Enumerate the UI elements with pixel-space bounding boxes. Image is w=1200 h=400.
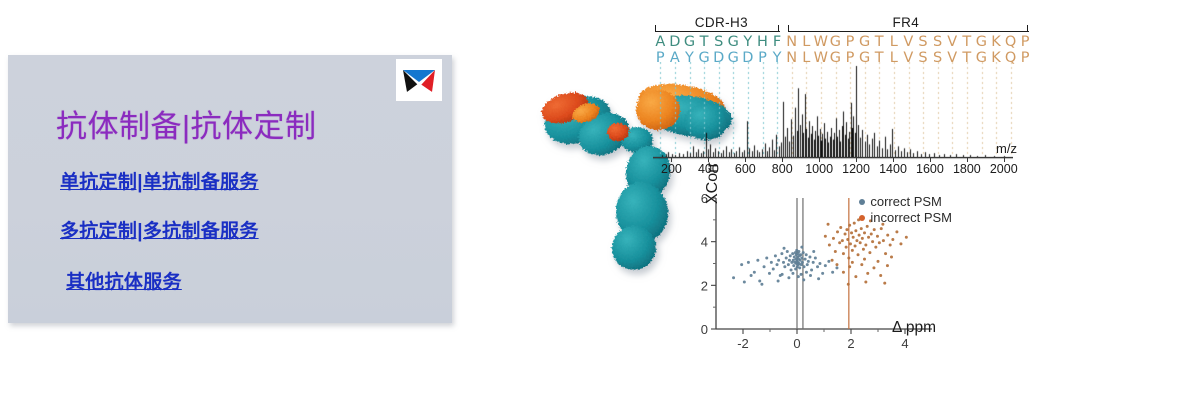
- scatter-point: [834, 250, 837, 253]
- residue: P: [1018, 34, 1033, 50]
- residue: S: [711, 34, 726, 50]
- promo-link-pab[interactable]: 多抗定制|多抗制备服务: [60, 216, 259, 243]
- residue: G: [726, 34, 741, 50]
- xcorr-scatter-plot: -20240246 XCorr Δ ppm correct PSMincorre…: [690, 190, 940, 365]
- scatter-point: [839, 226, 842, 229]
- residue: G: [682, 34, 697, 50]
- scatter-point: [780, 252, 783, 255]
- scatter-point: [747, 261, 750, 264]
- scatter-point: [756, 259, 759, 262]
- mz-tick-label: 200: [661, 162, 682, 176]
- residue: F: [770, 34, 785, 50]
- scatter-point: [827, 260, 830, 263]
- scatter-point: [787, 276, 790, 279]
- residue: L: [887, 34, 902, 50]
- scatter-point: [802, 278, 805, 281]
- scatter-point: [835, 266, 838, 269]
- scatter-point: [883, 282, 886, 285]
- scatter-point: [740, 263, 743, 266]
- legend-item: correct PSM: [859, 194, 952, 210]
- mz-tick-label: 1400: [879, 162, 907, 176]
- scatter-point: [890, 255, 893, 258]
- scatter-point: [847, 283, 850, 286]
- scatter-point: [792, 264, 795, 267]
- sequence-row-1: ADGTSGYHFNLWGPGTLVSSVTGKQP: [653, 34, 1013, 50]
- scatter-point: [804, 258, 807, 261]
- scatter-point: [803, 265, 806, 268]
- scatter-point: [770, 261, 773, 264]
- scatter-point: [774, 254, 777, 257]
- region-tick-mid-a: [778, 25, 779, 32]
- scatter-point: [863, 231, 866, 234]
- mz-tick-label: 1000: [805, 162, 833, 176]
- scatter-point: [818, 262, 821, 265]
- mz-tick-label: 600: [735, 162, 756, 176]
- residue: Y: [741, 34, 756, 50]
- residue: G: [974, 34, 989, 50]
- scatter-point: [809, 274, 812, 277]
- scatter-point: [841, 239, 844, 242]
- scatter-point: [800, 257, 803, 260]
- legend-label: incorrect PSM: [870, 210, 952, 226]
- residue: G: [857, 34, 872, 50]
- residue: T: [959, 34, 974, 50]
- scatter-point: [798, 266, 801, 269]
- legend-dot-icon: [859, 199, 865, 205]
- mz-axis-label: m/z: [996, 141, 1017, 156]
- scatter-point: [801, 261, 804, 264]
- residue: P: [1018, 50, 1033, 66]
- scatter-point: [800, 273, 803, 276]
- scatter-point: [880, 227, 883, 230]
- scatter-point: [814, 257, 817, 260]
- scatter-point: [831, 259, 834, 262]
- scatter-point: [868, 251, 871, 254]
- scatter-point: [753, 271, 756, 274]
- scatter-point: [851, 249, 854, 252]
- scatter-point: [787, 263, 790, 266]
- scatter-point: [849, 242, 852, 245]
- scatter-point: [873, 228, 876, 231]
- logo-arrow-icon: [396, 59, 442, 101]
- scatter-point: [828, 243, 831, 246]
- residue: Q: [1003, 34, 1018, 50]
- scatter-point: [776, 263, 779, 266]
- scatter-point: [802, 251, 805, 254]
- scatter-xlabel: Δ ppm: [892, 319, 936, 337]
- scatter-point: [842, 252, 845, 255]
- legend-label: correct PSM: [870, 194, 942, 210]
- scatter-point: [783, 265, 786, 268]
- scatter-point: [810, 269, 813, 272]
- legend-item: incorrect PSM: [859, 210, 952, 226]
- scatter-point: [807, 260, 810, 263]
- scatter-point: [846, 238, 849, 241]
- page-title: 抗体制备|抗体定制: [56, 101, 317, 146]
- scatter-point: [797, 275, 800, 278]
- scatter-point: [832, 237, 835, 240]
- mz-tick-label: 800: [772, 162, 793, 176]
- scatter-point: [877, 260, 880, 263]
- scatter-point: [864, 281, 867, 284]
- region-tick-mid-b: [788, 25, 789, 32]
- scatter-point: [857, 253, 860, 256]
- proteomics-figure: CDR-H3 FR4 ADGTSGYHFNLWGPGTLVSSVTGKQP PA…: [520, 0, 1200, 400]
- scatter-point: [797, 250, 800, 253]
- region-bars: CDR-H3 FR4: [653, 18, 1013, 34]
- scatter-xtick-label: 0: [793, 336, 800, 351]
- scatter-point: [844, 233, 847, 236]
- sequence-alignment: CDR-H3 FR4 ADGTSGYHFNLWGPGTLVSSVTGKQP PA…: [653, 18, 1013, 66]
- mz-tick-label: 1800: [953, 162, 981, 176]
- spectrum-canvas: [653, 62, 1013, 170]
- scatter-point: [845, 228, 848, 231]
- scatter-point: [777, 259, 780, 262]
- scatter-point: [800, 246, 803, 249]
- residue: D: [668, 34, 683, 50]
- scatter-point: [889, 243, 892, 246]
- scatter-point: [817, 277, 820, 280]
- scatter-point: [863, 258, 866, 261]
- scatter-point: [854, 275, 857, 278]
- scatter-point: [861, 237, 864, 240]
- scatter-point: [854, 229, 857, 232]
- scatter-point: [876, 235, 879, 238]
- scatter-point: [789, 254, 792, 257]
- scatter-point: [884, 252, 887, 255]
- scatter-point: [879, 274, 882, 277]
- promo-card: 抗体制备|抗体定制 单抗定制|单抗制备服务 多抗定制|多抗制备服务 其他抗体服务: [8, 55, 452, 323]
- mass-spectrum-plot: m/z 200400600800100012001400160018002000: [653, 62, 1013, 170]
- scatter-point: [878, 241, 881, 244]
- scatter-point: [886, 264, 889, 267]
- scatter-point: [812, 261, 815, 264]
- scatter-point: [812, 250, 815, 253]
- scatter-point: [872, 266, 875, 269]
- scatter-point: [786, 250, 789, 253]
- residue: W: [814, 34, 829, 50]
- residue: L: [799, 34, 814, 50]
- scatter-point: [824, 264, 827, 267]
- scatter-point: [821, 272, 824, 275]
- scatter-point: [886, 234, 889, 237]
- scatter-point: [836, 230, 839, 233]
- scatter-xtick-label: 2: [847, 336, 854, 351]
- scatter-point: [899, 242, 902, 245]
- scatter-point: [864, 243, 867, 246]
- scatter-point: [858, 234, 861, 237]
- scatter-point: [854, 245, 857, 248]
- scatter-point: [895, 230, 898, 233]
- scatter-xtick-label: -2: [737, 336, 749, 351]
- scatter-point: [827, 223, 830, 226]
- mz-axis-line: [653, 157, 1013, 158]
- scatter-point: [791, 272, 794, 275]
- scatter-ytick-label: 4: [701, 235, 708, 250]
- scatter-point: [874, 246, 877, 249]
- scatter-point: [788, 259, 791, 262]
- scatter-point: [824, 235, 827, 238]
- scatter-point: [871, 240, 874, 243]
- scatter-point: [799, 253, 802, 256]
- promo-link-mab[interactable]: 单抗定制|单抗制备服务: [60, 167, 259, 194]
- company-logo: [396, 59, 442, 101]
- scatter-point: [848, 224, 851, 227]
- scatter-point: [850, 231, 853, 234]
- residue: N: [784, 34, 799, 50]
- scatter-point: [867, 236, 870, 239]
- region-label-fr4: FR4: [893, 15, 920, 30]
- scatter-point: [845, 246, 848, 249]
- residue: P: [843, 34, 858, 50]
- scatter-point: [750, 274, 753, 277]
- scatter-point: [765, 257, 768, 260]
- scatter-point: [732, 276, 735, 279]
- scatter-ytick-label: 0: [701, 322, 708, 337]
- scatter-point: [860, 263, 863, 266]
- residue: T: [697, 34, 712, 50]
- region-rule-fr4: [788, 31, 1028, 32]
- scatter-point: [866, 272, 869, 275]
- scatter-point: [760, 283, 763, 286]
- scatter-point: [851, 261, 854, 264]
- scatter-point: [805, 271, 808, 274]
- scatter-point: [882, 239, 885, 242]
- scatter-point: [758, 279, 761, 282]
- residue: G: [828, 34, 843, 50]
- scatter-point: [777, 279, 780, 282]
- scatter-point: [842, 271, 845, 274]
- scatter-point: [859, 241, 862, 244]
- scatter-point: [855, 239, 858, 242]
- residue: S: [916, 34, 931, 50]
- scatter-point: [791, 252, 794, 255]
- scatter-point: [806, 263, 809, 266]
- residue: T: [872, 34, 887, 50]
- scatter-point: [743, 281, 746, 284]
- region-rule-cdrh3: [655, 31, 780, 32]
- scatter-point: [783, 247, 786, 250]
- scatter-point: [891, 238, 894, 241]
- region-tick-start: [655, 25, 656, 32]
- scatter-point: [763, 265, 766, 268]
- scatter-point: [785, 257, 788, 260]
- scatter-point: [831, 271, 834, 274]
- mz-tick-label: 1200: [842, 162, 870, 176]
- scatter-point: [808, 255, 811, 258]
- scatter-point: [838, 241, 841, 244]
- residue: V: [901, 34, 916, 50]
- promo-link-other[interactable]: 其他抗体服务: [66, 267, 182, 294]
- scatter-point: [772, 267, 775, 270]
- mz-tick-label: 2000: [990, 162, 1018, 176]
- mz-tick-label: 1600: [916, 162, 944, 176]
- scatter-point: [862, 248, 865, 251]
- scatter-point: [853, 222, 856, 225]
- scatter-point: [835, 263, 838, 266]
- residue: V: [945, 34, 960, 50]
- scatter-ylabel: XCorr: [704, 162, 722, 204]
- scatter-xtick-label: 4: [901, 336, 908, 351]
- scatter-ytick-label: 2: [701, 278, 708, 293]
- scatter-point: [860, 227, 863, 230]
- legend-dot-icon: [859, 215, 865, 221]
- residue: H: [755, 34, 770, 50]
- scatter-point: [816, 265, 819, 268]
- scatter-legend: correct PSMincorrect PSM: [859, 194, 952, 226]
- residue: K: [989, 34, 1004, 50]
- scatter-point: [768, 272, 771, 275]
- scatter-point: [781, 273, 784, 276]
- region-label-cdrh3: CDR-H3: [695, 15, 748, 30]
- scatter-point: [852, 236, 855, 239]
- scatter-point: [805, 253, 808, 256]
- residue: A: [653, 34, 668, 50]
- scatter-point: [905, 236, 908, 239]
- scatter-point: [870, 233, 873, 236]
- region-tick-end: [1027, 25, 1028, 32]
- scatter-point: [848, 265, 851, 268]
- residue: S: [930, 34, 945, 50]
- scatter-point: [782, 261, 785, 264]
- scatter-point: [847, 257, 850, 260]
- scatter-point: [790, 269, 793, 272]
